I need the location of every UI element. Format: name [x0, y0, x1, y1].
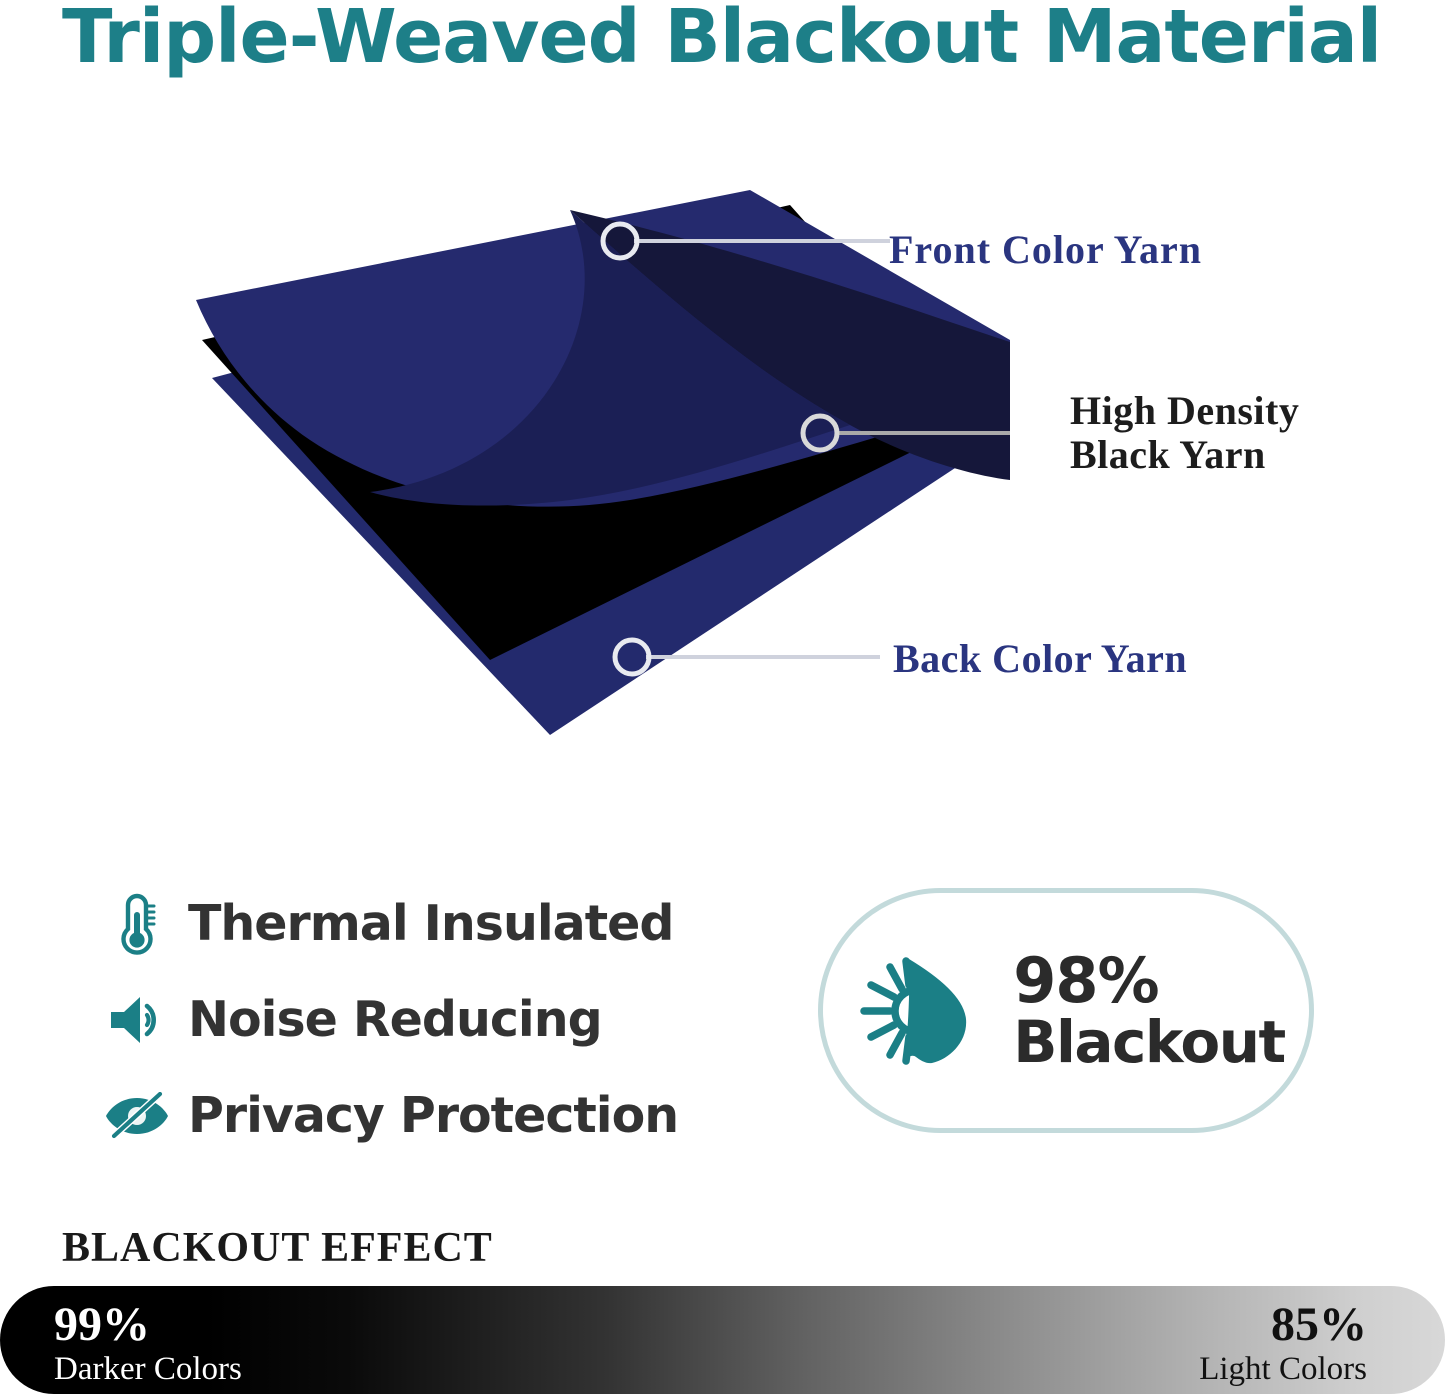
feature-list: Thermal Insulated Noise Reducing	[104, 880, 754, 1168]
gradient-bar-left-stat: 99% Darker Colors	[54, 1300, 242, 1388]
thermometer-icon	[104, 891, 170, 957]
darker-colors-percent: 99%	[54, 1300, 242, 1350]
feature-item-noise-reducing: Noise Reducing	[104, 976, 754, 1064]
callout-label-black-line2: Black Yarn	[1070, 432, 1266, 477]
speaker-sound-icon	[104, 987, 170, 1053]
badge-text-block: 98% Blackout	[1013, 949, 1285, 1071]
blackout-percentage-badge: 98% Blackout	[818, 888, 1314, 1133]
blackout-effect-heading: BLACKOUT EFFECT	[62, 1225, 493, 1271]
callout-label-black-line1: High Density	[1070, 388, 1299, 433]
fabric-layers-diagram	[190, 170, 1010, 750]
feature-label-thermal-insulated: Thermal Insulated	[188, 897, 673, 951]
sun-blocked-icon	[841, 936, 991, 1086]
gradient-bar-right-stat: 85% Light Colors	[1199, 1300, 1367, 1388]
darker-colors-caption: Darker Colors	[54, 1350, 242, 1388]
light-colors-caption: Light Colors	[1199, 1350, 1367, 1388]
page-title: Triple-Weaved Blackout Material	[62, 0, 1422, 78]
eye-slash-icon	[104, 1083, 170, 1149]
badge-word-label: Blackout	[1013, 1013, 1285, 1072]
feature-item-thermal-insulated: Thermal Insulated	[104, 880, 754, 968]
badge-percent-value: 98%	[1013, 949, 1285, 1012]
callout-label-back-color-yarn: Back Color Yarn	[893, 637, 1187, 681]
feature-label-noise-reducing: Noise Reducing	[188, 993, 602, 1047]
feature-label-privacy-protection: Privacy Protection	[188, 1089, 678, 1143]
callout-label-high-density-black-yarn: High Density Black Yarn	[1070, 389, 1370, 477]
blackout-effect-gradient-bar: 99% Darker Colors 85% Light Colors	[0, 1286, 1445, 1394]
callout-label-front-color-yarn: Front Color Yarn	[889, 228, 1202, 272]
feature-item-privacy-protection: Privacy Protection	[104, 1072, 754, 1160]
infographic-page: Triple-Weaved Blackout Material	[0, 0, 1445, 1394]
light-colors-percent: 85%	[1199, 1300, 1367, 1350]
